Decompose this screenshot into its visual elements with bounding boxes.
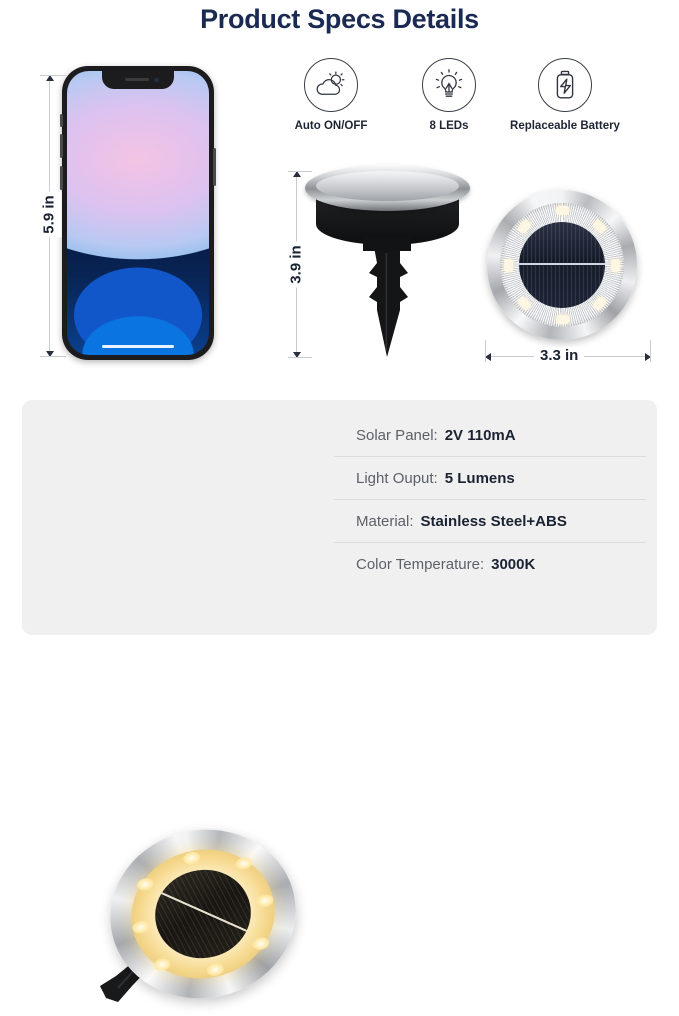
spec-label: Solar Panel: xyxy=(356,427,438,444)
spec-value: Stainless Steel+ABS xyxy=(421,513,567,530)
side-view-ground-stake xyxy=(364,247,410,357)
spec-value: 2V 110mA xyxy=(445,427,516,444)
phone-earpiece xyxy=(125,78,149,81)
phone-size-reference xyxy=(62,66,214,360)
led-4 xyxy=(592,296,608,312)
feature-label: Replaceable Battery xyxy=(510,120,620,132)
hero-led-1 xyxy=(182,851,201,866)
spec-row-light-output: Light Ouput: 5 Lumens xyxy=(334,457,646,500)
led-6 xyxy=(517,296,533,312)
feature-label: 8 LEDs xyxy=(394,120,504,132)
lightbulb-icon xyxy=(422,58,476,112)
spec-panel: Solar Panel: 2V 110mA Light Ouput: 5 Lum… xyxy=(22,400,657,635)
hero-lens-glow-ring xyxy=(119,836,286,991)
hero-steel-ring xyxy=(95,812,312,1015)
led-2 xyxy=(592,219,608,235)
led-3 xyxy=(611,259,620,272)
battery-bolt-icon xyxy=(538,58,592,112)
dimension-tick-top xyxy=(40,75,66,76)
spec-row-material: Material: Stainless Steel+ABS xyxy=(334,500,646,543)
dimension-tick-top xyxy=(288,171,312,172)
top-view-steel-ring xyxy=(487,190,637,340)
dimension-label-light-diameter: 3.3 in xyxy=(534,347,584,364)
phone-front-camera-icon xyxy=(154,78,159,83)
led-5 xyxy=(556,315,569,324)
hero-led-2 xyxy=(234,856,253,871)
phone-mockup xyxy=(62,66,214,360)
dimension-tick-right xyxy=(650,340,651,362)
dimension-tick-bottom xyxy=(288,357,312,358)
dimension-tick-bottom xyxy=(40,356,66,357)
product-hero-illuminated xyxy=(92,828,312,1016)
hero-led-7 xyxy=(131,920,150,935)
dimension-tick-left xyxy=(485,340,486,362)
spec-row-color-temperature: Color Temperature: 3000K xyxy=(334,543,646,585)
cloud-sun-icon xyxy=(304,58,358,112)
spec-row-solar-panel: Solar Panel: 2V 110mA xyxy=(334,414,646,457)
spec-table: Solar Panel: 2V 110mA Light Ouput: 5 Lum… xyxy=(334,414,646,585)
spec-label: Material: xyxy=(356,513,414,530)
phone-volume-down-button xyxy=(60,166,63,190)
hero-led-6 xyxy=(153,957,172,972)
hero-led-3 xyxy=(256,893,275,908)
dimension-label-light-height: 3.9 in xyxy=(284,242,309,288)
top-view-solar-panel xyxy=(519,222,605,308)
side-view-rim-inner xyxy=(316,171,459,201)
phone-mute-switch xyxy=(60,114,63,127)
phone-screen xyxy=(67,71,209,355)
hero-led-4 xyxy=(251,936,270,951)
side-view-steel-rim xyxy=(305,165,470,211)
dimension-label-phone-height: 5.9 in xyxy=(37,192,62,238)
phone-home-indicator xyxy=(102,345,174,349)
phone-power-button xyxy=(213,148,216,186)
spec-value: 5 Lumens xyxy=(445,470,515,487)
feature-8-leds: 8 LEDs xyxy=(394,58,504,132)
phone-volume-up-button xyxy=(60,134,63,158)
page-title: Product Specs Details xyxy=(0,4,679,35)
feature-label: Auto ON/OFF xyxy=(276,120,386,132)
phone-notch xyxy=(102,71,174,89)
led-7 xyxy=(504,259,513,272)
led-1 xyxy=(556,206,569,215)
led-8 xyxy=(517,219,533,235)
side-view-neck xyxy=(363,237,411,251)
feature-list: Auto ON/OFF 8 L xyxy=(270,58,670,132)
spec-value: 3000K xyxy=(491,556,535,573)
hero-solar-panel xyxy=(147,861,259,967)
feature-auto-on-off: Auto ON/OFF xyxy=(276,58,386,132)
spec-label: Color Temperature: xyxy=(356,556,484,573)
product-top-view xyxy=(487,190,637,340)
spec-label: Light Ouput: xyxy=(356,470,438,487)
product-side-view xyxy=(305,165,470,360)
hero-led-5 xyxy=(205,962,224,977)
top-view-lens-ring xyxy=(500,203,624,327)
feature-replaceable-battery: Replaceable Battery xyxy=(510,58,620,132)
